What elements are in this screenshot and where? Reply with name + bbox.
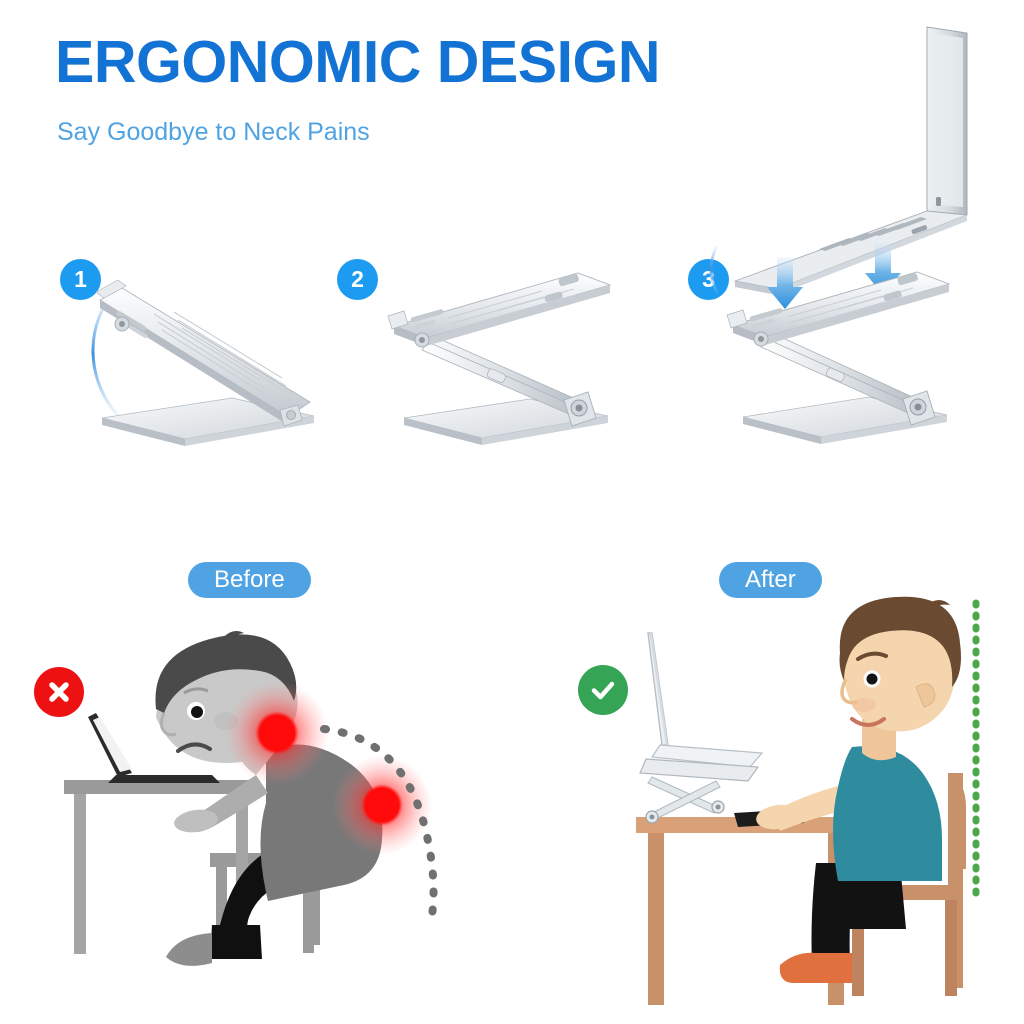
shoe [166, 933, 212, 966]
shoe-orange [780, 953, 852, 983]
label-before: Before [188, 562, 311, 598]
infographic-page: ERGONOMIC DESIGN Say Goodbye to Neck Pai… [0, 0, 1024, 1024]
stand-illustration-step3 [715, 25, 1005, 460]
laptop-device [735, 27, 967, 295]
stand-hinge-upper [754, 332, 768, 346]
step-badge-2: 2 [337, 259, 378, 300]
label-after: After [719, 562, 822, 598]
laptop-on-stand [640, 633, 762, 823]
scene-after-good-posture [600, 595, 1020, 1015]
stand-hinge [115, 317, 129, 331]
scene-before-bad-posture [60, 605, 520, 1015]
page-subtitle: Say Goodbye to Neck Pains [57, 120, 370, 145]
pain-spot-neck [225, 681, 329, 785]
head-color [840, 597, 962, 732]
stand-illustration-step2 [382, 268, 622, 458]
stand-illustration-step1 [82, 270, 332, 455]
stand-hinge-upper [415, 333, 429, 347]
page-title: ERGONOMIC DESIGN [55, 33, 660, 92]
person-good-posture [755, 597, 961, 983]
